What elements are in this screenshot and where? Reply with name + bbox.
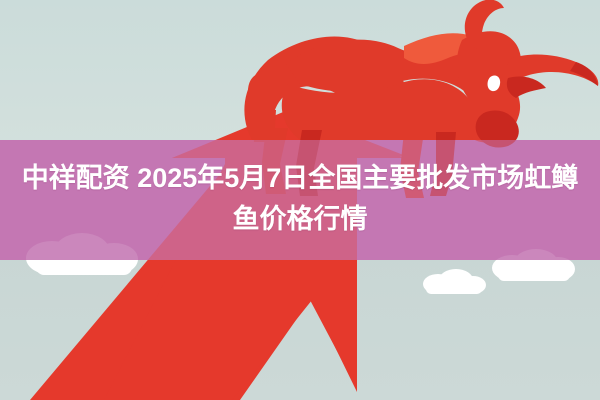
title-line-2: 鱼价格行情: [0, 199, 600, 240]
banner-title: 中祥配资 2025年5月7日全国主要批发市场虹鳟 鱼价格行情: [0, 158, 600, 240]
banner-image: 中祥配资 2025年5月7日全国主要批发市场虹鳟 鱼价格行情: [0, 0, 600, 400]
title-line-1: 中祥配资 2025年5月7日全国主要批发市场虹鳟: [0, 158, 600, 199]
